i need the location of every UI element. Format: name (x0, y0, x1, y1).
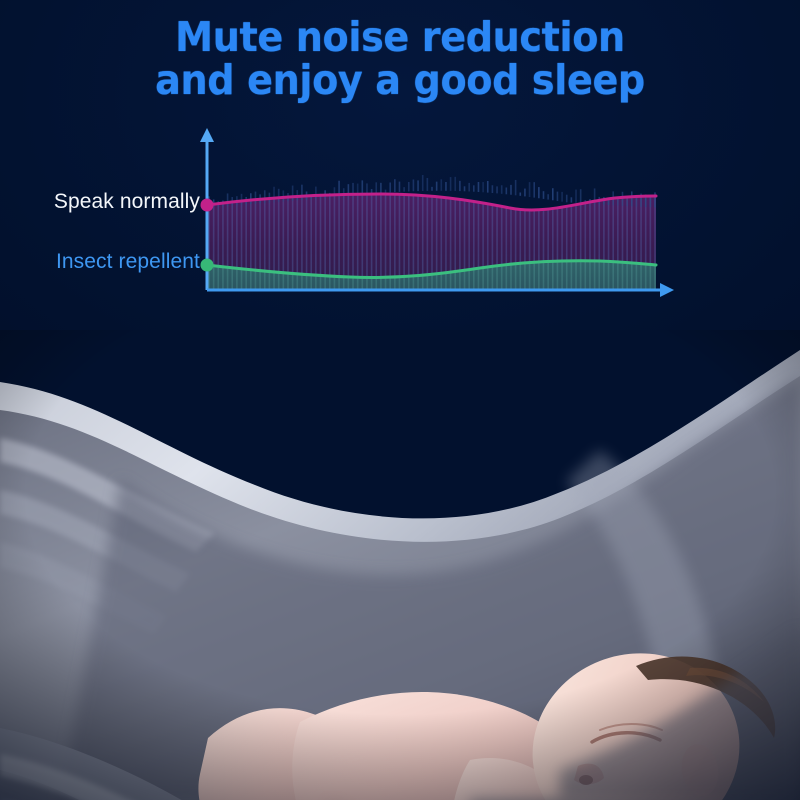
product-poster: Mute noise reduction and enjoy a good sl… (0, 0, 800, 800)
y-axis-arrow (200, 128, 214, 142)
noise-comparison-chart: Speak normally Insect repellent (0, 120, 800, 320)
legend-label-speak-normally: Speak normally (54, 190, 200, 214)
photo-svg (0, 330, 800, 800)
headline-line-1: Mute noise reduction (28, 16, 772, 59)
chart-legend: Speak normally Insect repellent (0, 120, 200, 320)
photo-vignette (0, 330, 800, 800)
x-axis-arrow (660, 283, 674, 297)
headline-line-2: and enjoy a good sleep (28, 59, 772, 102)
legend-dot-speak-normally (201, 199, 214, 212)
legend-label-insect-repellent: Insect repellent (56, 250, 200, 274)
page-title: Mute noise reduction and enjoy a good sl… (0, 16, 800, 103)
sleeping-baby-photo (0, 330, 800, 800)
legend-dot-insect-repellent (201, 259, 214, 272)
